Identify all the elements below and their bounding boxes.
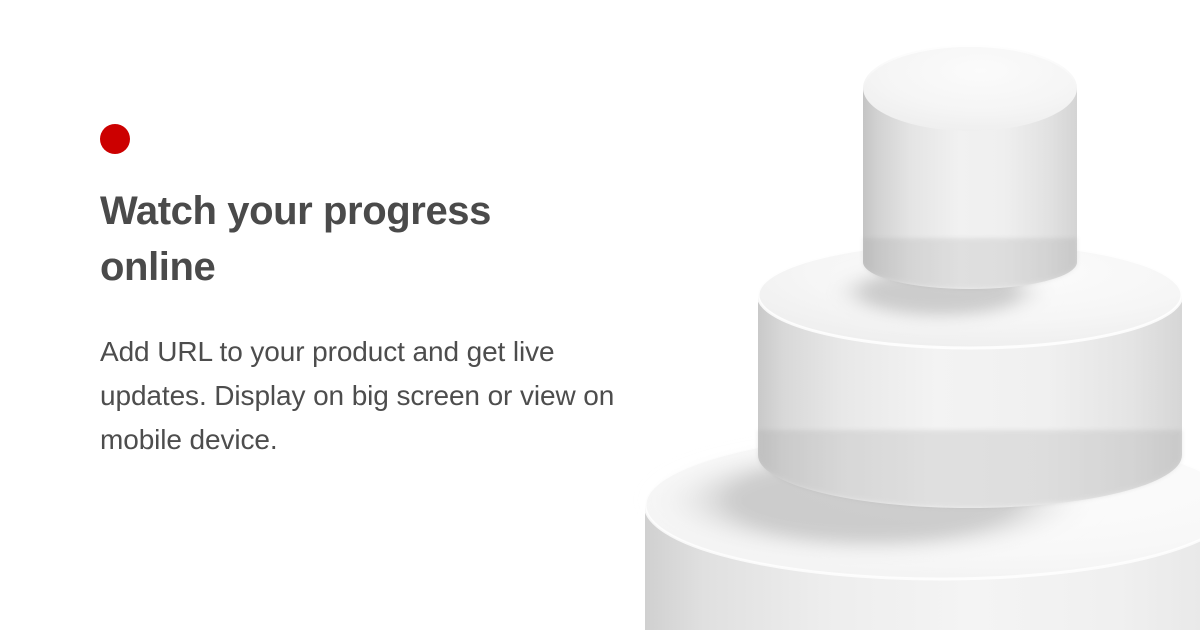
text-panel: Watch your progress online Add URL to yo… [100,0,640,630]
top-cylinder [863,45,1077,289]
dot-bullet-icon [100,124,130,154]
product-illustration [600,0,1200,630]
page-title: Watch your progress online [100,183,620,295]
body-description: Add URL to your product and get live upd… [100,330,630,462]
promo-slide: Watch your progress online Add URL to yo… [0,0,1200,630]
